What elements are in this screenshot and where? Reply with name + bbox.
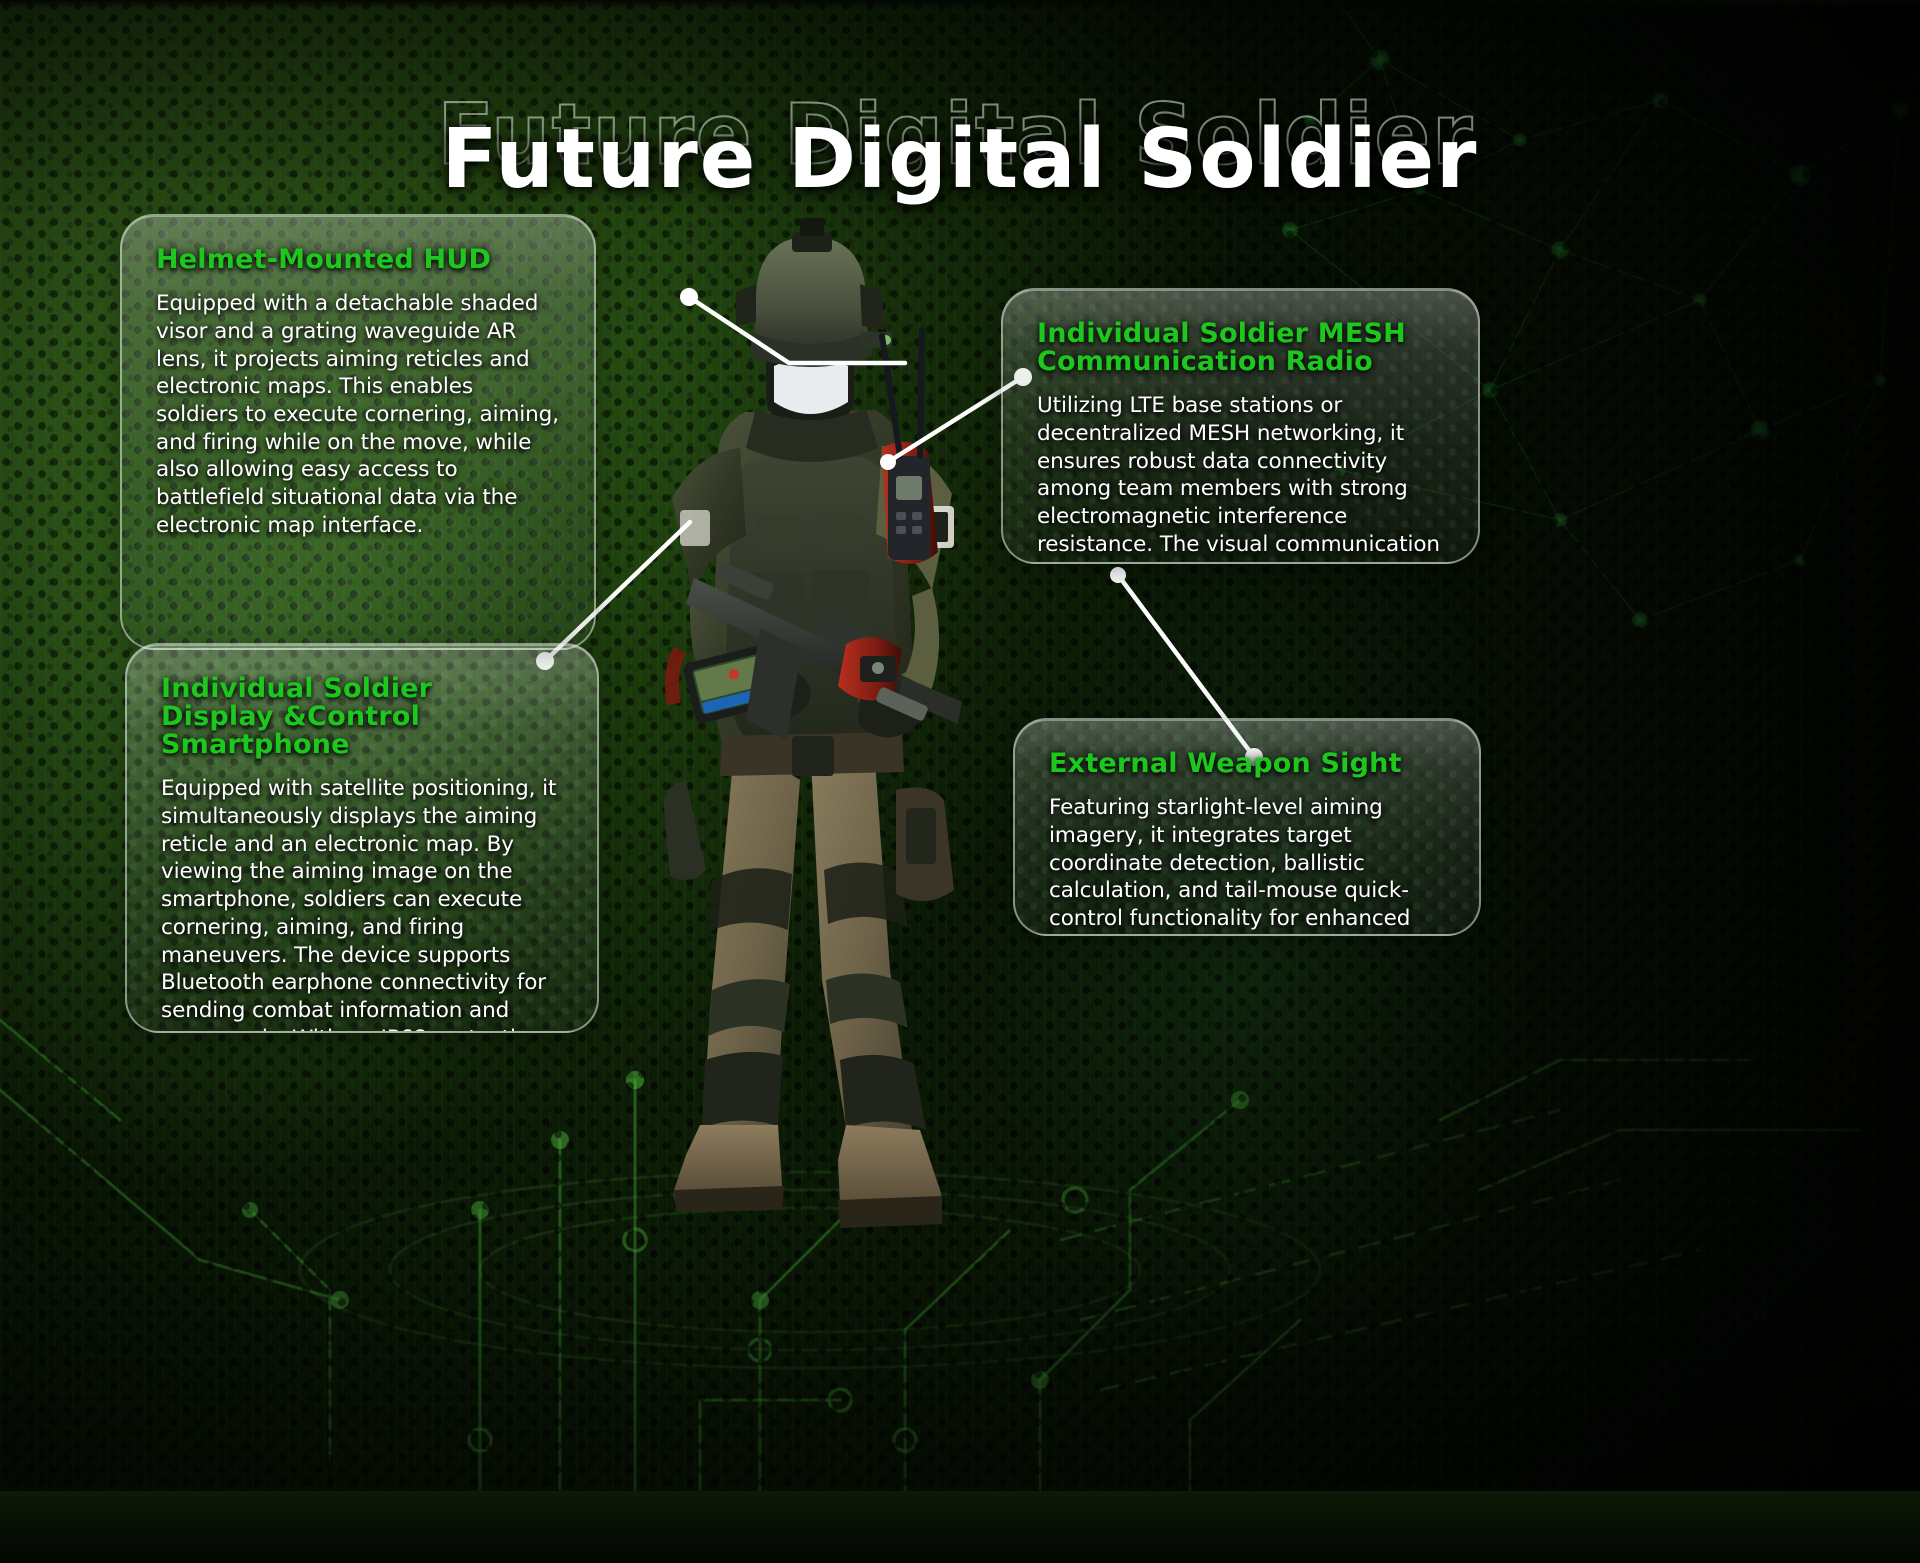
- card-body-helmet-hud: Equipped with a detachable shaded visor …: [156, 290, 560, 540]
- card-title-external-weapon-sight: External Weapon Sight: [1049, 750, 1445, 778]
- hud-callout-line: [689, 297, 905, 363]
- card-mesh-radio[interactable]: Individual Soldier MESH Communication Ra…: [1001, 288, 1480, 564]
- card-body-display-control-smartphone: Equipped with satellite positioning, it …: [161, 775, 563, 1033]
- card-title-line-2: Display &Control Smartphone: [161, 701, 420, 760]
- card-body-mesh-radio: Utilizing LTE base stations or decentral…: [1037, 392, 1444, 564]
- hud-callout-dot: [680, 288, 698, 306]
- card-title-mesh-radio: Individual Soldier MESH Communication Ra…: [1037, 320, 1444, 376]
- sight-anchor-dot: [1110, 567, 1126, 583]
- page-title-block: Future Digital Soldier Future Digital So…: [0, 88, 1920, 208]
- card-title-line-2: Communication Radio: [1037, 346, 1373, 377]
- card-title-helmet-hud: Helmet-Mounted HUD: [156, 246, 560, 274]
- infographic-poster: Future Digital Soldier Future Digital So…: [0, 0, 1920, 1563]
- card-display-control-smartphone[interactable]: Individual Soldier Display &Control Smar…: [125, 643, 599, 1033]
- card-body-external-weapon-sight: Featuring starlight-level aiming imagery…: [1049, 794, 1445, 936]
- card-title-line-1: Individual Soldier: [161, 673, 432, 704]
- mesh-anchor-dot: [880, 454, 896, 470]
- card-external-weapon-sight[interactable]: External Weapon Sight Featuring starligh…: [1013, 718, 1481, 936]
- card-title-line-1: Individual Soldier MESH: [1037, 318, 1406, 349]
- card-helmet-hud[interactable]: Helmet-Mounted HUD Equipped with a detac…: [120, 214, 596, 650]
- footer-bar: [0, 1491, 1920, 1563]
- card-title-display-control-smartphone: Individual Soldier Display &Control Smar…: [161, 675, 563, 759]
- page-title: Future Digital Soldier: [0, 112, 1920, 207]
